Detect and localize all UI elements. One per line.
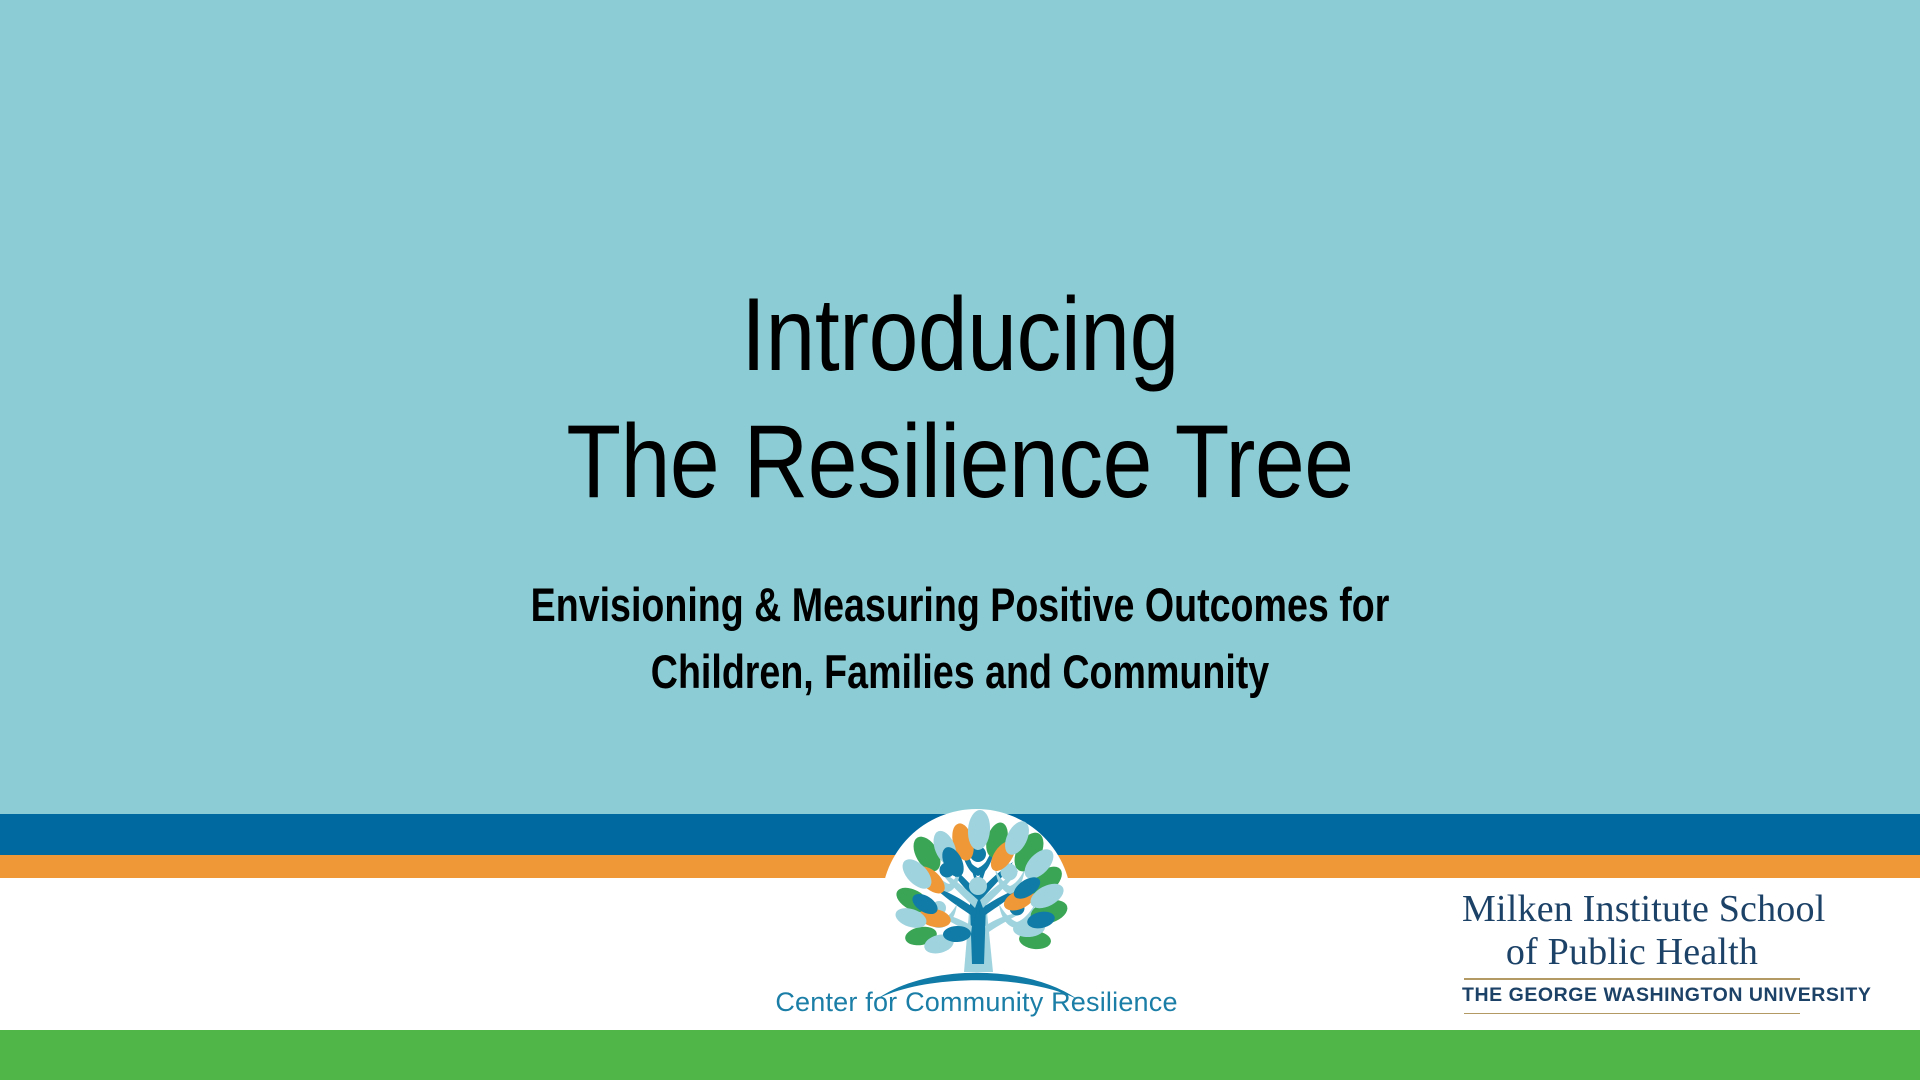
subtitle-line-2: Children, Families and Community xyxy=(192,639,1728,706)
gw-rule-bottom xyxy=(1464,1013,1800,1015)
slide-title: Introducing The Resilience Tree xyxy=(0,272,1920,526)
slide-subtitle: Envisioning & Measuring Positive Outcome… xyxy=(0,572,1920,705)
title-line-1: Introducing xyxy=(134,272,1785,399)
gw-university-name: THE GEORGE WASHINGTON UNIVERSITY xyxy=(1462,980,1802,1010)
gw-name-line-1: Milken Institute School xyxy=(1462,888,1802,931)
footer-band-green xyxy=(0,1030,1920,1080)
title-line-2: The Resilience Tree xyxy=(134,399,1785,526)
gw-name-line-2: of Public Health xyxy=(1462,931,1802,974)
ccr-logo-caption: Center for Community Resilience xyxy=(754,987,1199,1018)
ccr-logo: Center for Community Resilience xyxy=(869,804,1084,1020)
subtitle-line-1: Envisioning & Measuring Positive Outcome… xyxy=(192,572,1728,639)
slide-canvas: Introducing The Resilience Tree Envision… xyxy=(0,0,1920,1080)
gw-logo: Milken Institute School of Public Health… xyxy=(1462,888,1802,1006)
